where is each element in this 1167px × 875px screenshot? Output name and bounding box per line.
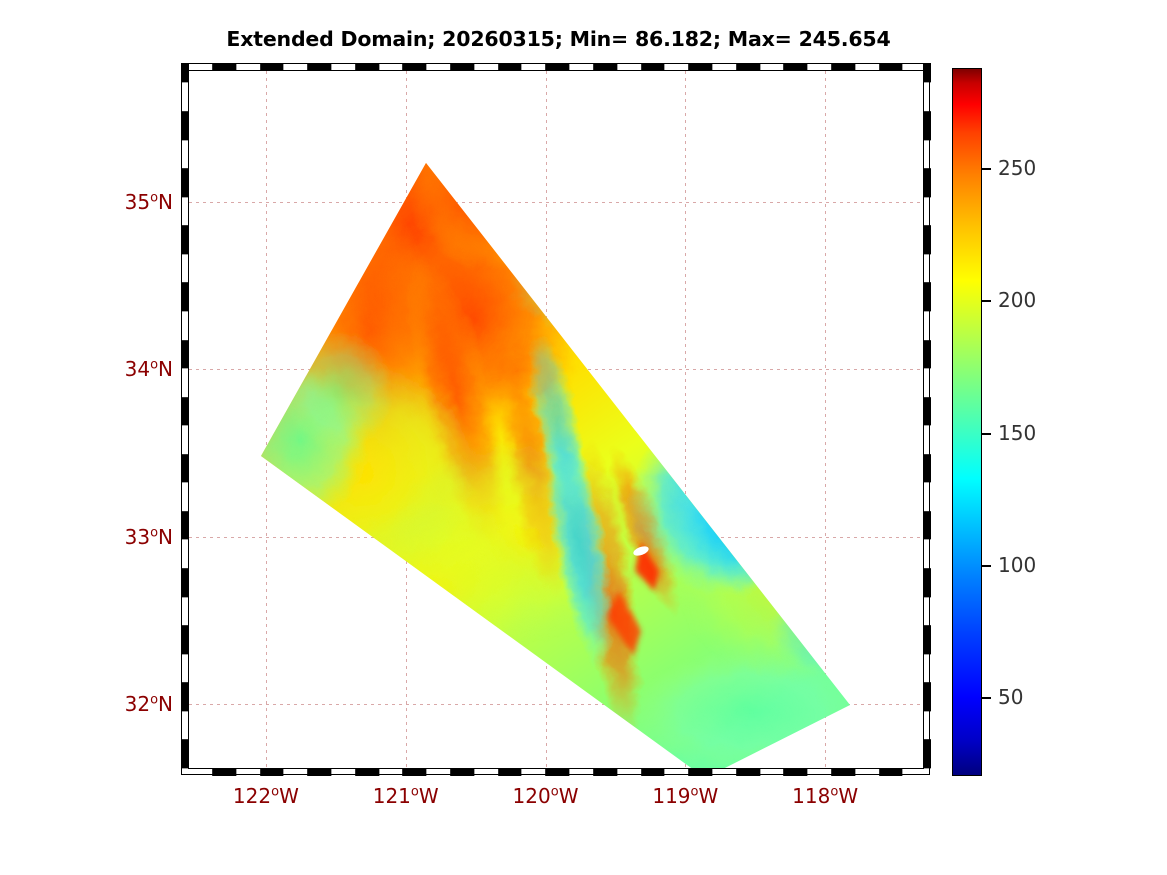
colorbar-tick-mark bbox=[982, 300, 991, 302]
frame-minor-tick bbox=[331, 63, 332, 71]
frame-segment bbox=[181, 397, 189, 426]
frame-minor-tick bbox=[712, 63, 713, 71]
frame-minor-tick bbox=[879, 63, 880, 71]
frame-segment bbox=[712, 768, 736, 776]
frame-minor-tick bbox=[923, 340, 931, 341]
frame-segment bbox=[760, 63, 784, 71]
frame-minor-tick bbox=[450, 63, 451, 71]
colorbar-tick-mark bbox=[982, 433, 991, 435]
frame-minor-tick bbox=[641, 768, 642, 776]
frame-minor-tick bbox=[181, 282, 189, 283]
frame-segment bbox=[181, 311, 189, 340]
frame-segment bbox=[450, 63, 474, 71]
frame-minor-tick bbox=[181, 654, 189, 655]
colorbar-tick-mark bbox=[982, 168, 991, 170]
frame-minor-tick bbox=[923, 768, 931, 769]
frame-minor-tick bbox=[923, 482, 931, 483]
frame-minor-tick bbox=[426, 63, 427, 71]
swath-edge-cutouts bbox=[481, 133, 529, 231]
colorbar-tick-mark bbox=[982, 565, 991, 567]
colorbar[interactable]: 25020015010050 bbox=[952, 68, 982, 776]
frame-segment bbox=[569, 768, 593, 776]
frame-minor-tick bbox=[355, 768, 356, 776]
frame-minor-tick bbox=[545, 63, 546, 71]
frame-minor-tick bbox=[923, 454, 931, 455]
frame-minor-tick bbox=[923, 254, 931, 255]
map-frame-top bbox=[181, 63, 931, 71]
frame-minor-tick bbox=[664, 768, 665, 776]
frame-minor-tick bbox=[923, 682, 931, 683]
frame-segment bbox=[212, 63, 236, 71]
frame-minor-tick bbox=[181, 454, 189, 455]
frame-segment bbox=[181, 482, 189, 511]
frame-minor-tick bbox=[212, 63, 213, 71]
frame-segment bbox=[212, 768, 236, 776]
frame-minor-tick bbox=[181, 768, 189, 769]
frame-segment bbox=[923, 454, 931, 483]
frame-minor-tick bbox=[181, 568, 189, 569]
frame-segment bbox=[688, 768, 712, 776]
data-swath-layer bbox=[189, 71, 923, 768]
frame-segment bbox=[923, 63, 931, 82]
frame-minor-tick bbox=[831, 63, 832, 71]
lat-tick-label: 34oN bbox=[125, 357, 173, 381]
frame-minor-tick bbox=[181, 397, 189, 398]
frame-minor-tick bbox=[260, 63, 261, 71]
frame-segment bbox=[307, 768, 331, 776]
frame-minor-tick bbox=[831, 768, 832, 776]
frame-segment bbox=[181, 511, 189, 540]
frame-minor-tick bbox=[181, 482, 189, 483]
frame-minor-tick bbox=[521, 768, 522, 776]
frame-segment bbox=[426, 63, 450, 71]
map-axes[interactable] bbox=[181, 63, 931, 776]
frame-segment bbox=[181, 739, 189, 768]
frame-minor-tick bbox=[331, 768, 332, 776]
frame-minor-tick bbox=[402, 768, 403, 776]
colorbar-tick-label: 200 bbox=[998, 288, 1036, 312]
swath-image bbox=[189, 71, 923, 768]
frame-minor-tick bbox=[923, 711, 931, 712]
page-title: Extended Domain; 20260315; Min= 86.182; … bbox=[0, 27, 1117, 51]
frame-segment bbox=[181, 282, 189, 311]
frame-segment bbox=[188, 768, 212, 776]
frame-segment bbox=[807, 63, 831, 71]
frame-minor-tick bbox=[181, 168, 189, 169]
frame-minor-tick bbox=[181, 254, 189, 255]
frame-segment bbox=[923, 140, 931, 169]
frame-minor-tick bbox=[923, 625, 931, 626]
colorbar-tick-label: 250 bbox=[998, 156, 1036, 180]
frame-minor-tick bbox=[923, 568, 931, 569]
frame-minor-tick bbox=[712, 768, 713, 776]
lat-tick-label: 35oN bbox=[125, 190, 173, 214]
frame-segment bbox=[688, 63, 712, 71]
frame-minor-tick bbox=[212, 768, 213, 776]
frame-minor-tick bbox=[181, 368, 189, 369]
frame-segment bbox=[855, 63, 879, 71]
frame-minor-tick bbox=[923, 168, 931, 169]
frame-minor-tick bbox=[923, 425, 931, 426]
frame-segment bbox=[783, 768, 807, 776]
frame-segment bbox=[181, 539, 189, 568]
figure-canvas: Extended Domain; 20260315; Min= 86.182; … bbox=[0, 0, 1167, 875]
frame-segment bbox=[545, 768, 569, 776]
frame-segment bbox=[181, 111, 189, 140]
frame-segment bbox=[521, 63, 545, 71]
frame-segment bbox=[879, 768, 903, 776]
frame-segment bbox=[712, 63, 736, 71]
frame-minor-tick bbox=[923, 539, 931, 540]
frame-segment bbox=[760, 768, 784, 776]
frame-segment bbox=[923, 82, 931, 111]
frame-segment bbox=[181, 197, 189, 226]
frame-minor-tick bbox=[181, 111, 189, 112]
frame-segment bbox=[236, 768, 260, 776]
frame-segment bbox=[807, 768, 831, 776]
lon-tick-label: 121oW bbox=[373, 784, 439, 808]
frame-minor-tick bbox=[379, 768, 380, 776]
frame-minor-tick bbox=[923, 311, 931, 312]
frame-segment bbox=[498, 768, 522, 776]
frame-segment bbox=[831, 63, 855, 71]
frame-minor-tick bbox=[855, 63, 856, 71]
frame-segment bbox=[181, 625, 189, 654]
frame-segment bbox=[617, 63, 641, 71]
lon-tick-label: 122oW bbox=[233, 784, 299, 808]
frame-segment bbox=[783, 63, 807, 71]
frame-minor-tick bbox=[355, 63, 356, 71]
frame-segment bbox=[181, 254, 189, 283]
frame-segment bbox=[879, 63, 903, 71]
frame-segment bbox=[521, 768, 545, 776]
frame-segment bbox=[402, 768, 426, 776]
frame-minor-tick bbox=[923, 739, 931, 740]
frame-minor-tick bbox=[688, 768, 689, 776]
frame-minor-tick bbox=[283, 63, 284, 71]
frame-segment bbox=[923, 654, 931, 683]
lon-tick-label: 119oW bbox=[652, 784, 718, 808]
frame-minor-tick bbox=[498, 63, 499, 71]
frame-minor-tick bbox=[181, 597, 189, 598]
frame-segment bbox=[923, 197, 931, 226]
frame-segment bbox=[355, 768, 379, 776]
frame-segment bbox=[617, 768, 641, 776]
frame-minor-tick bbox=[879, 768, 880, 776]
frame-segment bbox=[181, 63, 189, 82]
frame-segment bbox=[545, 63, 569, 71]
frame-segment bbox=[923, 311, 931, 340]
frame-segment bbox=[923, 625, 931, 654]
map-plot-area[interactable] bbox=[189, 71, 923, 768]
frame-segment bbox=[923, 682, 931, 711]
frame-minor-tick bbox=[783, 768, 784, 776]
frame-segment bbox=[379, 63, 403, 71]
frame-segment bbox=[379, 768, 403, 776]
frame-segment bbox=[426, 768, 450, 776]
frame-minor-tick bbox=[307, 768, 308, 776]
frame-minor-tick bbox=[181, 739, 189, 740]
frame-segment bbox=[855, 768, 879, 776]
frame-minor-tick bbox=[923, 282, 931, 283]
frame-minor-tick bbox=[923, 111, 931, 112]
frame-minor-tick bbox=[593, 63, 594, 71]
frame-segment bbox=[236, 63, 260, 71]
lon-tick-label: 120oW bbox=[513, 784, 579, 808]
frame-segment bbox=[181, 168, 189, 197]
frame-segment bbox=[831, 768, 855, 776]
frame-segment bbox=[923, 768, 931, 776]
frame-segment bbox=[923, 340, 931, 369]
frame-segment bbox=[181, 368, 189, 397]
frame-minor-tick bbox=[736, 63, 737, 71]
frame-minor-tick bbox=[783, 63, 784, 71]
frame-segment bbox=[923, 539, 931, 568]
frame-minor-tick bbox=[923, 225, 931, 226]
frame-minor-tick bbox=[181, 539, 189, 540]
frame-segment bbox=[181, 225, 189, 254]
frame-segment bbox=[923, 168, 931, 197]
frame-segment bbox=[923, 368, 931, 397]
frame-segment bbox=[188, 63, 212, 71]
frame-minor-tick bbox=[181, 711, 189, 712]
frame-minor-tick bbox=[307, 63, 308, 71]
frame-segment bbox=[474, 63, 498, 71]
frame-segment bbox=[181, 711, 189, 740]
frame-segment bbox=[474, 768, 498, 776]
frame-segment bbox=[923, 225, 931, 254]
frame-minor-tick bbox=[617, 768, 618, 776]
frame-segment bbox=[283, 63, 307, 71]
frame-minor-tick bbox=[236, 768, 237, 776]
frame-minor-tick bbox=[569, 768, 570, 776]
frame-segment bbox=[307, 63, 331, 71]
frame-segment bbox=[181, 654, 189, 683]
frame-segment bbox=[569, 63, 593, 71]
frame-segment bbox=[664, 768, 688, 776]
frame-segment bbox=[181, 597, 189, 626]
frame-minor-tick bbox=[923, 197, 931, 198]
frame-minor-tick bbox=[664, 63, 665, 71]
frame-segment bbox=[641, 63, 665, 71]
frame-minor-tick bbox=[902, 768, 903, 776]
frame-segment bbox=[923, 111, 931, 140]
frame-minor-tick bbox=[923, 82, 931, 83]
frame-segment bbox=[355, 63, 379, 71]
frame-minor-tick bbox=[923, 597, 931, 598]
frame-segment bbox=[923, 568, 931, 597]
frame-minor-tick bbox=[181, 625, 189, 626]
frame-segment bbox=[181, 140, 189, 169]
frame-minor-tick bbox=[923, 397, 931, 398]
map-frame-left bbox=[181, 63, 189, 776]
frame-segment bbox=[498, 63, 522, 71]
frame-minor-tick bbox=[545, 768, 546, 776]
frame-minor-tick bbox=[236, 63, 237, 71]
frame-minor-tick bbox=[593, 768, 594, 776]
colorbar-tick-label: 100 bbox=[998, 553, 1036, 577]
frame-segment bbox=[181, 568, 189, 597]
frame-minor-tick bbox=[569, 63, 570, 71]
frame-minor-tick bbox=[181, 682, 189, 683]
frame-minor-tick bbox=[521, 63, 522, 71]
colorbar-tick-mark bbox=[982, 697, 991, 699]
lon-tick-label: 118oW bbox=[792, 784, 858, 808]
frame-minor-tick bbox=[760, 63, 761, 71]
frame-minor-tick bbox=[181, 425, 189, 426]
frame-segment bbox=[260, 63, 284, 71]
frame-segment bbox=[181, 454, 189, 483]
frame-minor-tick bbox=[379, 63, 380, 71]
frame-minor-tick bbox=[923, 654, 931, 655]
frame-minor-tick bbox=[181, 140, 189, 141]
frame-segment bbox=[181, 425, 189, 454]
frame-minor-tick bbox=[923, 368, 931, 369]
frame-minor-tick bbox=[807, 63, 808, 71]
frame-segment bbox=[923, 254, 931, 283]
frame-minor-tick bbox=[450, 768, 451, 776]
frame-minor-tick bbox=[760, 768, 761, 776]
frame-minor-tick bbox=[855, 768, 856, 776]
frame-minor-tick bbox=[902, 63, 903, 71]
frame-segment bbox=[923, 597, 931, 626]
frame-minor-tick bbox=[181, 82, 189, 83]
frame-minor-tick bbox=[617, 63, 618, 71]
frame-minor-tick bbox=[498, 768, 499, 776]
frame-segment bbox=[923, 711, 931, 740]
frame-segment bbox=[181, 82, 189, 111]
frame-segment bbox=[923, 282, 931, 311]
frame-minor-tick bbox=[426, 768, 427, 776]
frame-segment bbox=[331, 63, 355, 71]
colorbar-tick-label: 50 bbox=[998, 685, 1023, 709]
frame-segment bbox=[402, 63, 426, 71]
frame-minor-tick bbox=[807, 768, 808, 776]
frame-segment bbox=[923, 739, 931, 768]
frame-segment bbox=[593, 768, 617, 776]
frame-minor-tick bbox=[181, 225, 189, 226]
frame-segment bbox=[641, 768, 665, 776]
frame-minor-tick bbox=[474, 768, 475, 776]
lat-tick-label: 33oN bbox=[125, 525, 173, 549]
map-frame-right bbox=[923, 63, 931, 776]
frame-minor-tick bbox=[923, 511, 931, 512]
frame-segment bbox=[450, 768, 474, 776]
frame-segment bbox=[664, 63, 688, 71]
frame-minor-tick bbox=[283, 768, 284, 776]
frame-minor-tick bbox=[402, 63, 403, 71]
lat-tick-label: 32oN bbox=[125, 692, 173, 716]
frame-minor-tick bbox=[688, 63, 689, 71]
frame-minor-tick bbox=[181, 311, 189, 312]
frame-segment bbox=[923, 482, 931, 511]
colorbar-tick-label: 150 bbox=[998, 421, 1036, 445]
frame-segment bbox=[923, 397, 931, 426]
frame-segment bbox=[736, 768, 760, 776]
frame-segment bbox=[283, 768, 307, 776]
frame-segment bbox=[923, 511, 931, 540]
frame-segment bbox=[181, 768, 189, 776]
frame-minor-tick bbox=[181, 197, 189, 198]
frame-minor-tick bbox=[260, 768, 261, 776]
frame-segment bbox=[331, 768, 355, 776]
frame-minor-tick bbox=[474, 63, 475, 71]
frame-minor-tick bbox=[641, 63, 642, 71]
frame-minor-tick bbox=[736, 768, 737, 776]
frame-segment bbox=[736, 63, 760, 71]
frame-segment bbox=[260, 768, 284, 776]
frame-minor-tick bbox=[181, 511, 189, 512]
frame-segment bbox=[923, 425, 931, 454]
frame-minor-tick bbox=[181, 340, 189, 341]
map-frame-bottom bbox=[181, 768, 931, 776]
frame-segment bbox=[593, 63, 617, 71]
frame-segment bbox=[181, 682, 189, 711]
frame-minor-tick bbox=[923, 140, 931, 141]
colorbar-gradient bbox=[952, 68, 982, 776]
frame-segment bbox=[181, 340, 189, 369]
